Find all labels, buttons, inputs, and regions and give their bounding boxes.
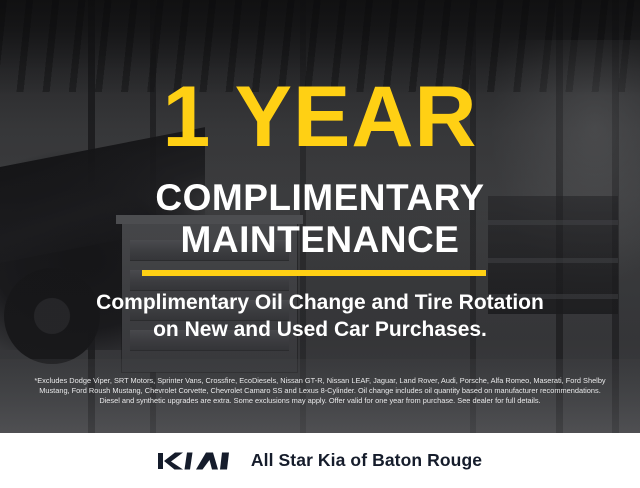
- kia-logo: [158, 450, 232, 472]
- headline-offer: 1 YEAR: [0, 74, 640, 160]
- subheadline-line-1: COMPLIMENTARY: [0, 177, 640, 219]
- offer-description-line-1: Complimentary Oil Change and Tire Rotati…: [0, 289, 640, 316]
- disclaimer-text: *Excludes Dodge Viper, SRT Motors, Sprin…: [14, 376, 626, 407]
- offer-description-line-2: on New and Used Car Purchases.: [0, 316, 640, 343]
- yellow-divider-rule: [142, 270, 486, 276]
- offer-description: Complimentary Oil Change and Tire Rotati…: [0, 289, 640, 343]
- disclaimer-line-1: *Excludes Dodge Viper, SRT Motors, Sprin…: [14, 376, 626, 386]
- subheadline-line-2: MAINTENANCE: [0, 219, 640, 261]
- disclaimer-line-2: Mustang, Ford Roush Mustang, Chevrolet C…: [14, 386, 626, 396]
- subheadline: COMPLIMENTARY MAINTENANCE: [0, 177, 640, 261]
- dealer-name: All Star Kia of Baton Rouge: [251, 450, 482, 471]
- dealer-footer: All Star Kia of Baton Rouge: [0, 433, 640, 488]
- advertisement-banner: 1 YEAR COMPLIMENTARY MAINTENANCE Complim…: [0, 0, 640, 488]
- ad-content: 1 YEAR COMPLIMENTARY MAINTENANCE Complim…: [0, 0, 640, 433]
- disclaimer-line-3: Diesel and synthetic upgrades are extra.…: [14, 396, 626, 406]
